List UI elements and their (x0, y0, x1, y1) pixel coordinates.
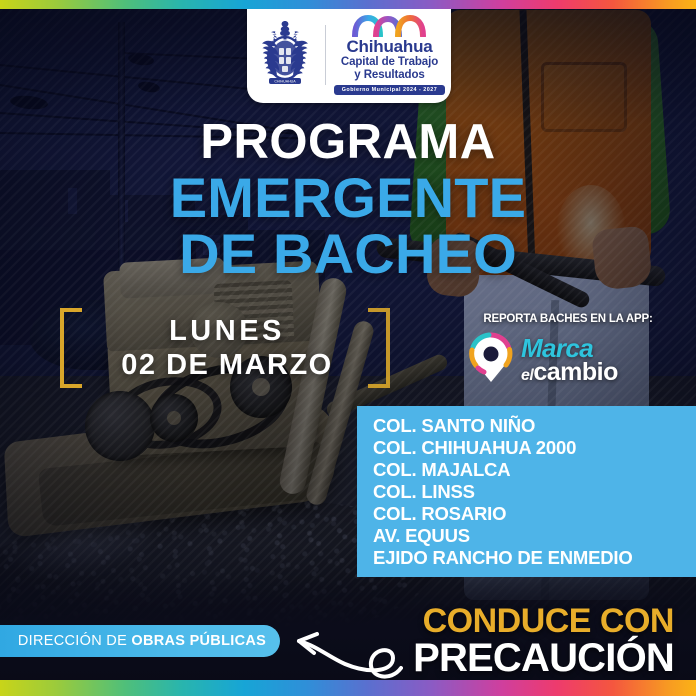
list-item: COL. CHIHUAHUA 2000 (373, 437, 696, 459)
location-pin-icon (468, 332, 514, 389)
slogan-line-2: PRECAUCIÓN (413, 638, 674, 678)
government-logo-card: CHIHUAHUA (247, 9, 451, 103)
date-weekday: LUNES (90, 314, 364, 348)
slogan-line-1: CONDUCE CON (413, 604, 674, 638)
safety-slogan: CONDUCE CON PRECAUCIÓN (413, 604, 674, 678)
curly-arrow-left-icon (283, 612, 403, 682)
list-item: COL. ROSARIO (373, 503, 696, 525)
app-name-cambio: cambio (533, 358, 618, 386)
list-item: COL. MAJALCA (373, 459, 696, 481)
app-promo-block: REPORTA BACHES EN LA APP: Marca (468, 313, 668, 389)
rainbow-strip-bottom (0, 680, 696, 696)
rainbow-strip-top (0, 0, 696, 9)
bracket-left-icon (60, 308, 82, 388)
department-prefix: DIRECCIÓN DE (18, 633, 131, 649)
department-name: OBRAS PÚBLICAS (131, 633, 266, 649)
bracket-right-icon (368, 308, 390, 388)
government-period-band: Gobierno Municipal 2024 - 2027 (334, 85, 446, 95)
list-item: COL. SANTO NIÑO (373, 415, 696, 437)
list-item: COL. LINSS (373, 481, 696, 503)
brand-name: Chihuahua (346, 38, 432, 55)
app-promo-label: REPORTA BACHES EN LA APP: (468, 313, 668, 325)
headline-block: PROGRAMA EMERGENTE DE BACHEO (0, 118, 696, 282)
date-block: LUNES 02 DE MARZO (60, 308, 390, 388)
list-item: AV. EQUUS (373, 525, 696, 547)
app-name-el: el (521, 367, 533, 384)
brand-lockup: Chihuahua Capital de Trabajo y Resultado… (334, 15, 446, 95)
department-pill: DIRECCIÓN DE OBRAS PÚBLICAS (0, 625, 280, 657)
logo-divider (325, 25, 326, 85)
headline-line-1: PROGRAMA (0, 118, 696, 168)
date-day-month: 02 DE MARZO (90, 348, 364, 382)
svg-text:CHIHUAHUA: CHIHUAHUA (274, 80, 296, 84)
brand-tagline-line2: y Resultados (341, 69, 438, 82)
headline-line-2: EMERGENTE (0, 170, 696, 226)
coat-of-arms-icon: CHIHUAHUA (253, 18, 317, 92)
street-list-panel: COL. SANTO NIÑO COL. CHIHUAHUA 2000 COL.… (357, 406, 696, 577)
poster-canvas: CHIHUAHUA (0, 0, 696, 696)
brand-tagline-line1: Capital de Trabajo (341, 56, 438, 69)
chihuahua-arcs-icon (352, 15, 428, 37)
headline-line-3: DE BACHEO (0, 226, 696, 282)
list-item: EJIDO RANCHO DE ENMEDIO (373, 547, 696, 569)
